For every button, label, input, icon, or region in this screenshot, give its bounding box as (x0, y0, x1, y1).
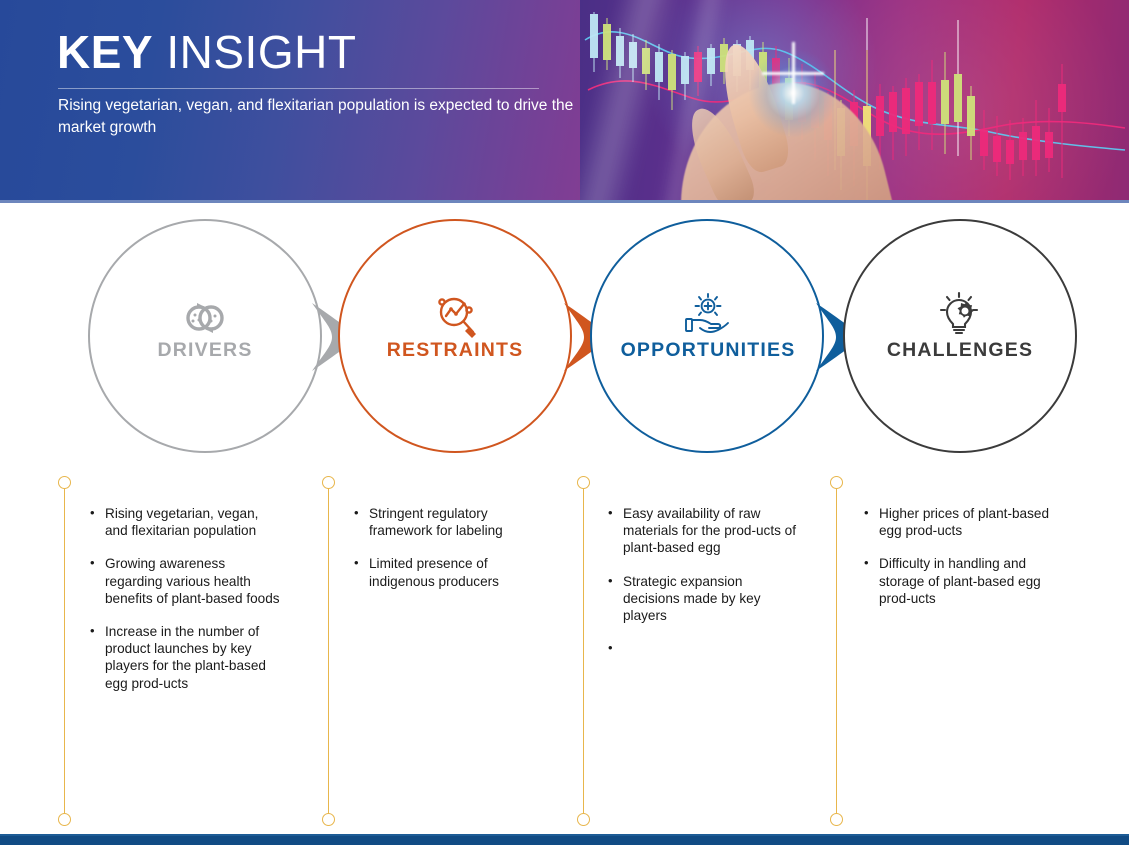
title-divider (58, 88, 539, 89)
connector-line-restraints (328, 484, 329, 819)
connector-dot-top-restraints (322, 476, 335, 489)
key-insight-infographic: KEY INSIGHT Rising vegetarian, vegan, an… (0, 0, 1129, 845)
circles-row: DRIVERS RESTRAINTS (0, 203, 1129, 503)
connector-line-opportunities (583, 484, 584, 819)
bullet-list-opportunities: Easy availability of raw materials for t… (606, 505, 802, 640)
page-title-light: INSIGHT (153, 26, 356, 78)
list-item: Growing awareness regarding various heal… (88, 555, 280, 607)
page-title-bold: KEY (57, 26, 153, 78)
connector-line-drivers (64, 484, 65, 819)
list-item: Difficulty in handling and storage of pl… (862, 555, 1054, 607)
header-photo (580, 0, 1129, 200)
page-title: KEY INSIGHT (57, 24, 356, 80)
list-item: Stringent regulatory framework for label… (352, 505, 538, 539)
connector-dot-bottom-opportunities (577, 813, 590, 826)
connector-dot-bottom-challenges (830, 813, 843, 826)
sparkle-icon (778, 58, 808, 88)
list-item: Rising vegetarian, vegan, and flexitaria… (88, 505, 280, 539)
section-label-challenges: CHALLENGES (830, 339, 1090, 362)
footer-bar (0, 836, 1129, 845)
header-banner: KEY INSIGHT Rising vegetarian, vegan, an… (0, 0, 1129, 200)
connector-dot-top-drivers (58, 476, 71, 489)
page-subtitle: Rising vegetarian, vegan, and flexitaria… (58, 95, 588, 139)
list-item: Strategic expansion decisions made by ke… (606, 573, 802, 625)
connector-dot-top-challenges (830, 476, 843, 489)
bullet-list-drivers: Rising vegetarian, vegan, and flexitaria… (88, 505, 280, 708)
section-label-drivers: DRIVERS (75, 339, 335, 362)
bullet-list-restraints: Stringent regulatory framework for label… (352, 505, 538, 606)
magnifier-chart-icon (425, 293, 485, 339)
list-item: Limited presence of indigenous producers (352, 555, 538, 589)
cycle-arrows-icon (175, 295, 235, 341)
connector-dot-top-opportunities (577, 476, 590, 489)
list-item: Easy availability of raw materials for t… (606, 505, 802, 557)
hand-idea-icon (678, 293, 738, 339)
list-item: Higher prices of plant-based egg prod-uc… (862, 505, 1054, 539)
bullet-list-challenges: Higher prices of plant-based egg prod-uc… (862, 505, 1054, 623)
section-label-restraints: RESTRAINTS (325, 339, 585, 362)
connector-line-challenges (836, 484, 837, 819)
section-label-opportunities: OPPORTUNITIES (578, 339, 838, 362)
bulb-gear-icon (930, 291, 990, 337)
connector-dot-bottom-restraints (322, 813, 335, 826)
list-item: Increase in the number of product launch… (88, 623, 280, 692)
connector-dot-bottom-drivers (58, 813, 71, 826)
